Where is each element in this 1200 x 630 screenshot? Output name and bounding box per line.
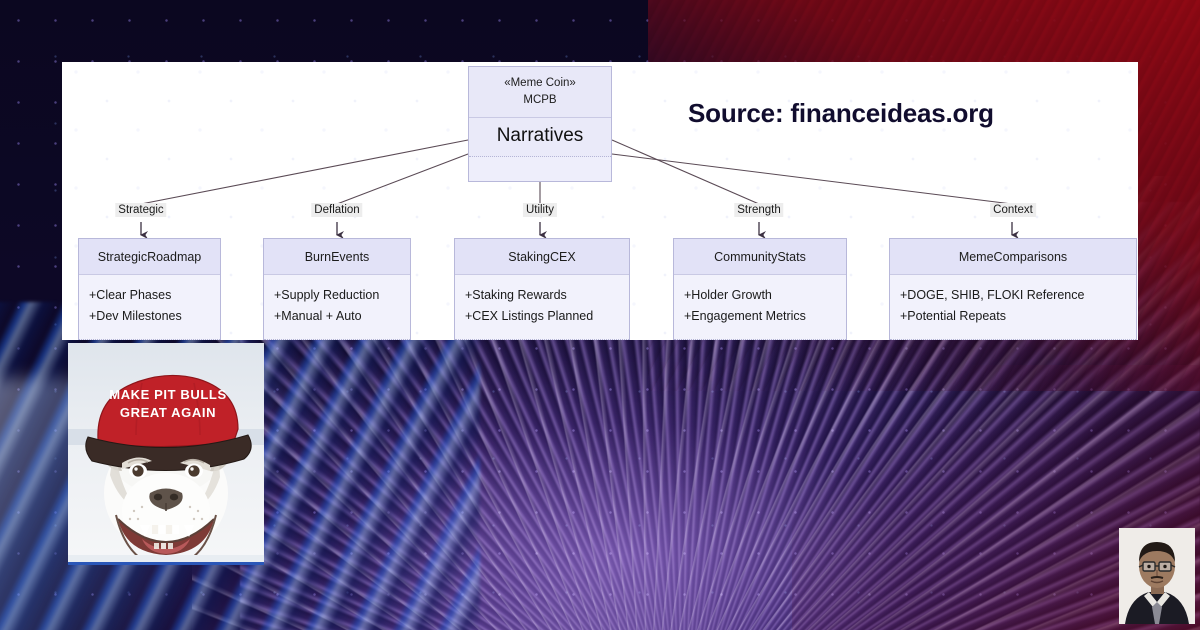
class-node-attribute: +DOGE, SHIB, FLOKI Reference — [900, 285, 1126, 306]
class-node-strategicroadmap[interactable]: StrategicRoadmap +Clear Phases +Dev Mile… — [78, 238, 221, 340]
class-node-attribute: +Holder Growth — [684, 285, 836, 306]
pitbull-illustration: MAKE PIT BULLS GREAT AGAIN — [68, 343, 264, 565]
class-node-title: CommunityStats — [674, 239, 846, 275]
author-portrait — [1119, 528, 1195, 624]
pitbull-photo: MAKE PIT BULLS GREAT AGAIN — [68, 343, 264, 565]
cap-text-line1: MAKE PIT BULLS — [109, 387, 226, 402]
class-node-burnevents[interactable]: BurnEvents +Supply Reduction +Manual + A… — [263, 238, 411, 340]
class-node-attribute: +Dev Milestones — [89, 306, 210, 327]
class-node-attributes: +Supply Reduction +Manual + Auto — [264, 275, 410, 340]
class-node-title: BurnEvents — [264, 239, 410, 275]
class-node-title: StakingCEX — [455, 239, 629, 275]
cap-text-line2: GREAT AGAIN — [120, 405, 216, 420]
edge-label-utility: Utility — [523, 203, 557, 217]
class-node-memecomparisons[interactable]: MemeComparisons +DOGE, SHIB, FLOKI Refer… — [889, 238, 1137, 340]
class-node-communitystats[interactable]: CommunityStats +Holder Growth +Engagemen… — [673, 238, 847, 340]
root-node-title: Narratives — [469, 118, 611, 157]
class-node-attribute: +Engagement Metrics — [684, 306, 836, 327]
screenshot-stage: «Meme Coin» MCPB Narratives Strategic De… — [0, 0, 1200, 630]
class-node-attribute: +Manual + Auto — [274, 306, 400, 327]
class-node-attribute: +CEX Listings Planned — [465, 306, 619, 327]
class-node-attributes: +Staking Rewards +CEX Listings Planned — [455, 275, 629, 340]
root-node-footer — [469, 157, 611, 181]
class-node-attributes: +Holder Growth +Engagement Metrics — [674, 275, 846, 340]
class-node-attribute: +Potential Repeats — [900, 306, 1126, 327]
edge-label-deflation: Deflation — [311, 203, 362, 217]
root-node-stereotype: «Meme Coin» — [473, 75, 607, 92]
class-node-attributes: +DOGE, SHIB, FLOKI Reference +Potential … — [890, 275, 1136, 340]
edge-label-strength: Strength — [734, 203, 783, 217]
class-node-attribute: +Clear Phases — [89, 285, 210, 306]
class-node-title: MemeComparisons — [890, 239, 1136, 275]
root-node-subtitle: MCPB — [473, 92, 607, 109]
root-node-narratives[interactable]: «Meme Coin» MCPB Narratives — [468, 66, 612, 182]
source-watermark: Source: financeideas.org — [688, 98, 994, 129]
class-node-stakingcex[interactable]: StakingCEX +Staking Rewards +CEX Listing… — [454, 238, 630, 340]
root-node-stereotype-block: «Meme Coin» MCPB — [469, 67, 611, 118]
edge-label-strategic: Strategic — [115, 203, 166, 217]
class-node-attribute: +Supply Reduction — [274, 285, 400, 306]
edge-label-context: Context — [990, 203, 1036, 217]
class-node-attributes: +Clear Phases +Dev Milestones — [79, 275, 220, 340]
class-node-attribute: +Staking Rewards — [465, 285, 619, 306]
class-node-title: StrategicRoadmap — [79, 239, 220, 275]
author-avatar — [1119, 528, 1195, 624]
